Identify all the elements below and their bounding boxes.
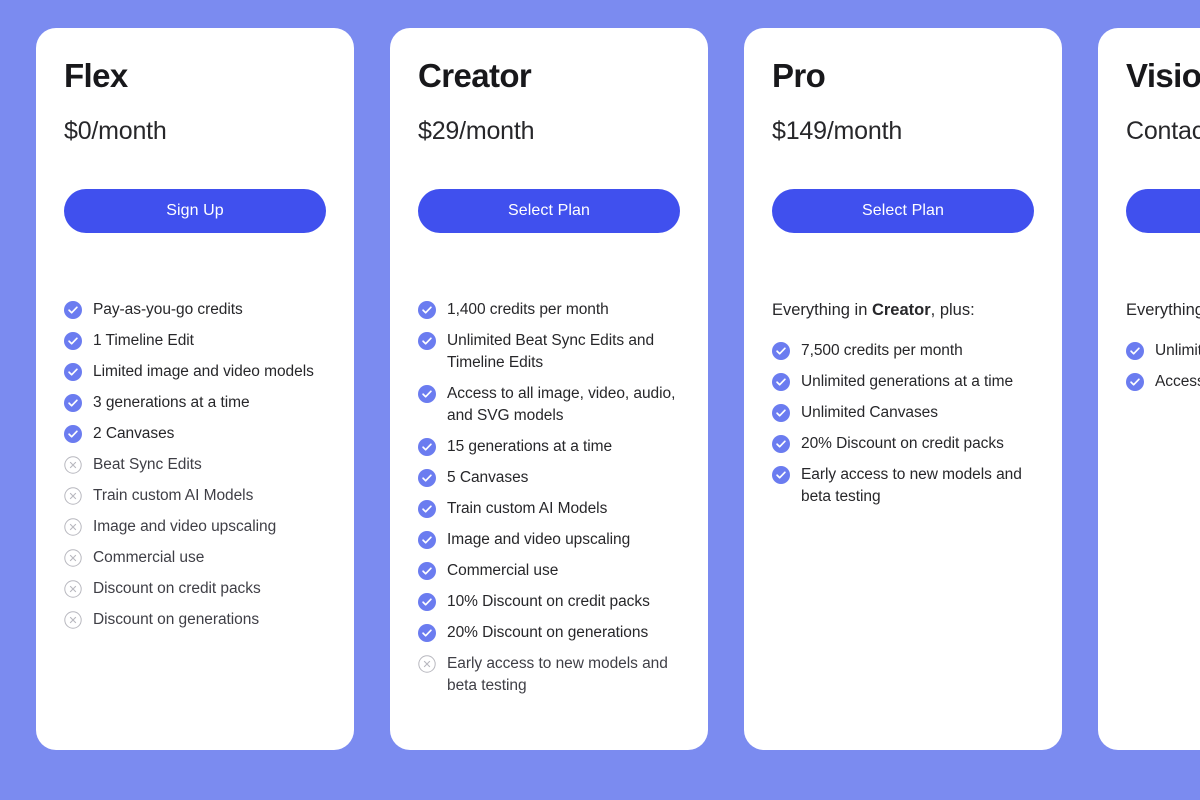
cross-circle-icon bbox=[64, 456, 82, 474]
feature-label: Unlimited Beat Sync Edits and Timeline E… bbox=[447, 330, 680, 374]
check-circle-icon bbox=[64, 332, 82, 350]
feature-label: Discount on generations bbox=[93, 609, 259, 631]
check-circle-icon bbox=[418, 531, 436, 549]
feature-item: 2 Canvases bbox=[64, 423, 326, 445]
feature-label: Early access to new models and beta test… bbox=[801, 464, 1034, 508]
feature-label: Limited image and video models bbox=[93, 361, 314, 383]
feature-item: Unlimited everything bbox=[1126, 340, 1200, 362]
check-circle-icon bbox=[418, 500, 436, 518]
feature-label: 1,400 credits per month bbox=[447, 299, 609, 321]
feature-item: Image and video upscaling bbox=[418, 529, 680, 551]
feature-item: Train custom AI Models bbox=[64, 485, 326, 507]
check-circle-icon bbox=[418, 624, 436, 642]
check-circle-icon bbox=[772, 373, 790, 391]
feature-item: Unlimited generations at a time bbox=[772, 371, 1034, 393]
check-circle-icon bbox=[1126, 342, 1144, 360]
cross-circle-icon bbox=[418, 655, 436, 673]
plan-card-pro: Pro$149/monthSelect PlanEverything in Cr… bbox=[744, 28, 1062, 750]
check-circle-icon bbox=[418, 332, 436, 350]
plan-price: $149/month bbox=[772, 116, 1034, 146]
check-circle-icon bbox=[64, 425, 82, 443]
lead-in-prefix: Everything in bbox=[1126, 301, 1200, 319]
feature-item: Train custom AI Models bbox=[418, 498, 680, 520]
feature-label: 3 generations at a time bbox=[93, 392, 250, 414]
cross-circle-icon bbox=[64, 487, 82, 505]
feature-item: Access to all image, video, audio, and S… bbox=[418, 383, 680, 427]
feature-item: 1 Timeline Edit bbox=[64, 330, 326, 352]
feature-item: Commercial use bbox=[64, 547, 326, 569]
check-circle-icon bbox=[772, 342, 790, 360]
lead-in-suffix: , plus: bbox=[931, 301, 975, 319]
plan-card-creator: Creator$29/monthSelect Plan1,400 credits… bbox=[390, 28, 708, 750]
plan-lead-in: Everything in Creator, plus: bbox=[772, 299, 1034, 321]
lead-in-emphasis: Creator bbox=[872, 301, 931, 319]
cross-circle-icon bbox=[64, 549, 82, 567]
feature-item: Early access to new models and beta test… bbox=[772, 464, 1034, 508]
feature-label: Access to all image, video, audio, and S… bbox=[447, 383, 680, 427]
feature-item: Unlimited Canvases bbox=[772, 402, 1034, 424]
check-circle-icon bbox=[64, 301, 82, 319]
feature-list: 1,400 credits per monthUnlimited Beat Sy… bbox=[418, 299, 680, 697]
feature-item: 15 generations at a time bbox=[418, 436, 680, 458]
check-circle-icon bbox=[418, 593, 436, 611]
feature-item: 20% Discount on generations bbox=[418, 622, 680, 644]
feature-item: 10% Discount on credit packs bbox=[418, 591, 680, 613]
feature-label: Image and video upscaling bbox=[447, 529, 630, 551]
feature-label: 1 Timeline Edit bbox=[93, 330, 194, 352]
feature-item: 7,500 credits per month bbox=[772, 340, 1034, 362]
feature-label: Commercial use bbox=[447, 560, 558, 582]
feature-item: 1,400 credits per month bbox=[418, 299, 680, 321]
feature-item: Limited image and video models bbox=[64, 361, 326, 383]
plan-card-flex: Flex$0/monthSign UpPay-as-you-go credits… bbox=[36, 28, 354, 750]
feature-item: Discount on credit packs bbox=[64, 578, 326, 600]
feature-item: Commercial use bbox=[418, 560, 680, 582]
feature-label: 5 Canvases bbox=[447, 467, 528, 489]
plan-price: $0/month bbox=[64, 116, 326, 146]
check-circle-icon bbox=[418, 385, 436, 403]
plan-cta-button[interactable]: Select Plan bbox=[418, 189, 680, 233]
plan-title: Creator bbox=[418, 58, 680, 94]
feature-item: Pay-as-you-go credits bbox=[64, 299, 326, 321]
feature-label: Early access to new models and beta test… bbox=[447, 653, 680, 697]
plan-title: Visionary bbox=[1126, 58, 1200, 94]
feature-label: Image and video upscaling bbox=[93, 516, 276, 538]
feature-label: Pay-as-you-go credits bbox=[93, 299, 243, 321]
feature-label: Access to dedicated support bbox=[1155, 371, 1200, 393]
feature-label: Train custom AI Models bbox=[447, 498, 607, 520]
check-circle-icon bbox=[64, 394, 82, 412]
feature-item: Beat Sync Edits bbox=[64, 454, 326, 476]
plan-price: $29/month bbox=[418, 116, 680, 146]
feature-label: Beat Sync Edits bbox=[93, 454, 202, 476]
feature-item: 20% Discount on credit packs bbox=[772, 433, 1034, 455]
feature-list: Pay-as-you-go credits1 Timeline EditLimi… bbox=[64, 299, 326, 631]
feature-label: 10% Discount on credit packs bbox=[447, 591, 650, 613]
cross-circle-icon bbox=[64, 518, 82, 536]
feature-list: 7,500 credits per monthUnlimited generat… bbox=[772, 340, 1034, 508]
feature-label: 2 Canvases bbox=[93, 423, 174, 445]
feature-label: 7,500 credits per month bbox=[801, 340, 963, 362]
plan-card-visionary: VisionaryContact usContact SalesEverythi… bbox=[1098, 28, 1200, 750]
feature-item: Image and video upscaling bbox=[64, 516, 326, 538]
plan-cta-button[interactable]: Select Plan bbox=[772, 189, 1034, 233]
feature-item: Early access to new models and beta test… bbox=[418, 653, 680, 697]
feature-item: Access to dedicated support bbox=[1126, 371, 1200, 393]
feature-label: Unlimited generations at a time bbox=[801, 371, 1013, 393]
feature-list: Unlimited everythingAccess to dedicated … bbox=[1126, 340, 1200, 393]
cross-circle-icon bbox=[64, 611, 82, 629]
feature-label: 20% Discount on credit packs bbox=[801, 433, 1004, 455]
feature-item: 5 Canvases bbox=[418, 467, 680, 489]
cross-circle-icon bbox=[64, 580, 82, 598]
check-circle-icon bbox=[772, 466, 790, 484]
plan-title: Flex bbox=[64, 58, 326, 94]
plan-price: Contact us bbox=[1126, 116, 1200, 146]
feature-label: Commercial use bbox=[93, 547, 204, 569]
check-circle-icon bbox=[1126, 373, 1144, 391]
check-circle-icon bbox=[418, 469, 436, 487]
check-circle-icon bbox=[772, 435, 790, 453]
feature-label: 20% Discount on generations bbox=[447, 622, 648, 644]
check-circle-icon bbox=[418, 438, 436, 456]
plan-cta-button[interactable]: Contact Sales bbox=[1126, 189, 1200, 233]
feature-label: Unlimited Canvases bbox=[801, 402, 938, 424]
plan-lead-in: Everything in Pro, plus: bbox=[1126, 299, 1200, 321]
pricing-page: Flex$0/monthSign UpPay-as-you-go credits… bbox=[0, 0, 1200, 800]
feature-label: Discount on credit packs bbox=[93, 578, 261, 600]
pricing-cards-rail: Flex$0/monthSign UpPay-as-you-go credits… bbox=[36, 28, 1200, 750]
feature-item: Unlimited Beat Sync Edits and Timeline E… bbox=[418, 330, 680, 374]
check-circle-icon bbox=[772, 404, 790, 422]
check-circle-icon bbox=[418, 562, 436, 580]
feature-label: 15 generations at a time bbox=[447, 436, 612, 458]
check-circle-icon bbox=[64, 363, 82, 381]
plan-title: Pro bbox=[772, 58, 1034, 94]
feature-label: Train custom AI Models bbox=[93, 485, 253, 507]
feature-item: Discount on generations bbox=[64, 609, 326, 631]
plan-cta-button[interactable]: Sign Up bbox=[64, 189, 326, 233]
feature-label: Unlimited everything bbox=[1155, 340, 1200, 362]
feature-item: 3 generations at a time bbox=[64, 392, 326, 414]
check-circle-icon bbox=[418, 301, 436, 319]
lead-in-prefix: Everything in bbox=[772, 301, 872, 319]
